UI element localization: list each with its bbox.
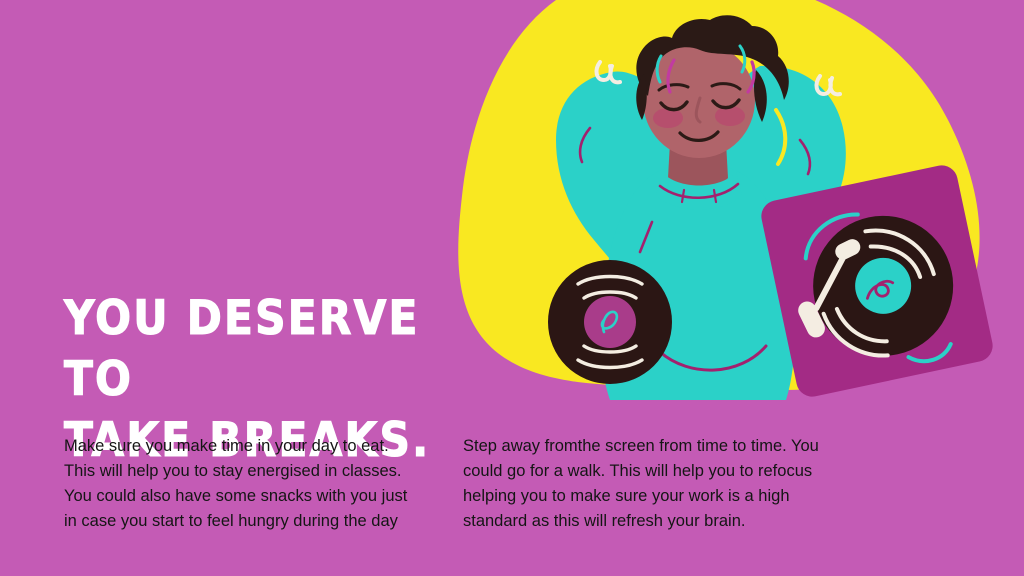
vinyl-left-groove-top-2 bbox=[584, 292, 636, 298]
sweater-fold-4 bbox=[580, 128, 590, 162]
collar-line-magenta bbox=[660, 184, 738, 198]
hair-highlight-teal-2 bbox=[740, 46, 745, 72]
vinyl-left-groove-bottom-1 bbox=[584, 346, 636, 352]
hand-left-fingers-2 bbox=[610, 66, 620, 82]
eyebrow-right bbox=[712, 84, 740, 89]
vinyl-left-groove-bottom-2 bbox=[578, 360, 642, 368]
nose bbox=[696, 98, 700, 122]
turntable bbox=[758, 162, 995, 399]
sweater-torso bbox=[601, 163, 795, 400]
person-figure bbox=[556, 15, 846, 400]
turntable-groove-3 bbox=[837, 300, 887, 350]
cheek-right bbox=[715, 106, 745, 126]
tonearm-rod bbox=[806, 253, 855, 308]
eyebrow-left bbox=[659, 85, 688, 90]
smile bbox=[680, 132, 718, 140]
vinyl-record-left bbox=[548, 260, 672, 384]
right-arm-sleeve bbox=[706, 66, 846, 292]
sweater-fold-3 bbox=[770, 214, 782, 246]
collar-stitch-2 bbox=[714, 190, 716, 202]
turntable-accent-teal-bottom bbox=[908, 344, 954, 365]
hair-side-right bbox=[754, 70, 767, 122]
tonearm-head bbox=[833, 236, 863, 262]
cheek-left bbox=[653, 108, 683, 128]
turntable-groove-1 bbox=[865, 219, 933, 286]
hair-highlight-teal-1 bbox=[657, 56, 661, 82]
eye-left-closed bbox=[661, 102, 687, 110]
hair-highlight-magenta-1 bbox=[668, 60, 674, 92]
sweater-fold-2 bbox=[620, 320, 632, 360]
left-arm-sleeve bbox=[556, 71, 700, 300]
sweater-hem-curve bbox=[660, 346, 766, 370]
head-face bbox=[643, 42, 755, 158]
vinyl-left-groove-top-1 bbox=[578, 277, 642, 285]
sweater-fold-1 bbox=[640, 222, 652, 252]
vinyl-left-label bbox=[584, 296, 636, 348]
turntable-label bbox=[850, 253, 916, 319]
sweater-collar bbox=[656, 172, 742, 210]
turntable-groove-4 bbox=[824, 303, 888, 367]
sweater-fold-5 bbox=[800, 140, 810, 174]
body-column-step-away: Step away fromthe screen from time to ti… bbox=[463, 434, 823, 534]
sweater-arc-yellow bbox=[776, 110, 785, 164]
hair-side-left bbox=[636, 74, 647, 120]
hand-right-fingers bbox=[817, 76, 831, 94]
neck bbox=[668, 142, 728, 189]
vinyl-left-disc bbox=[548, 260, 672, 384]
hand-left-fingers bbox=[597, 62, 611, 80]
collar-stitch-1 bbox=[682, 190, 684, 202]
vinyl-left-squiggle bbox=[602, 312, 617, 332]
hand-right-fingers-2 bbox=[830, 78, 840, 94]
turntable-groove-2 bbox=[871, 238, 920, 286]
turntable-label-squiggle bbox=[865, 280, 895, 299]
eye-right-closed bbox=[713, 100, 739, 108]
hair bbox=[636, 15, 788, 100]
turntable-accent-teal-top bbox=[799, 213, 865, 258]
tonearm-base bbox=[795, 298, 828, 340]
turntable-disc bbox=[800, 203, 966, 369]
turntable-body bbox=[758, 162, 995, 399]
yellow-blob-shape bbox=[458, 0, 979, 390]
body-column-eat-well: Make sure you make time in your day to e… bbox=[64, 434, 424, 534]
slide-canvas: You deserve to take breaks. Make sure yo… bbox=[0, 0, 1024, 576]
hair-highlight-magenta-2 bbox=[748, 62, 754, 92]
